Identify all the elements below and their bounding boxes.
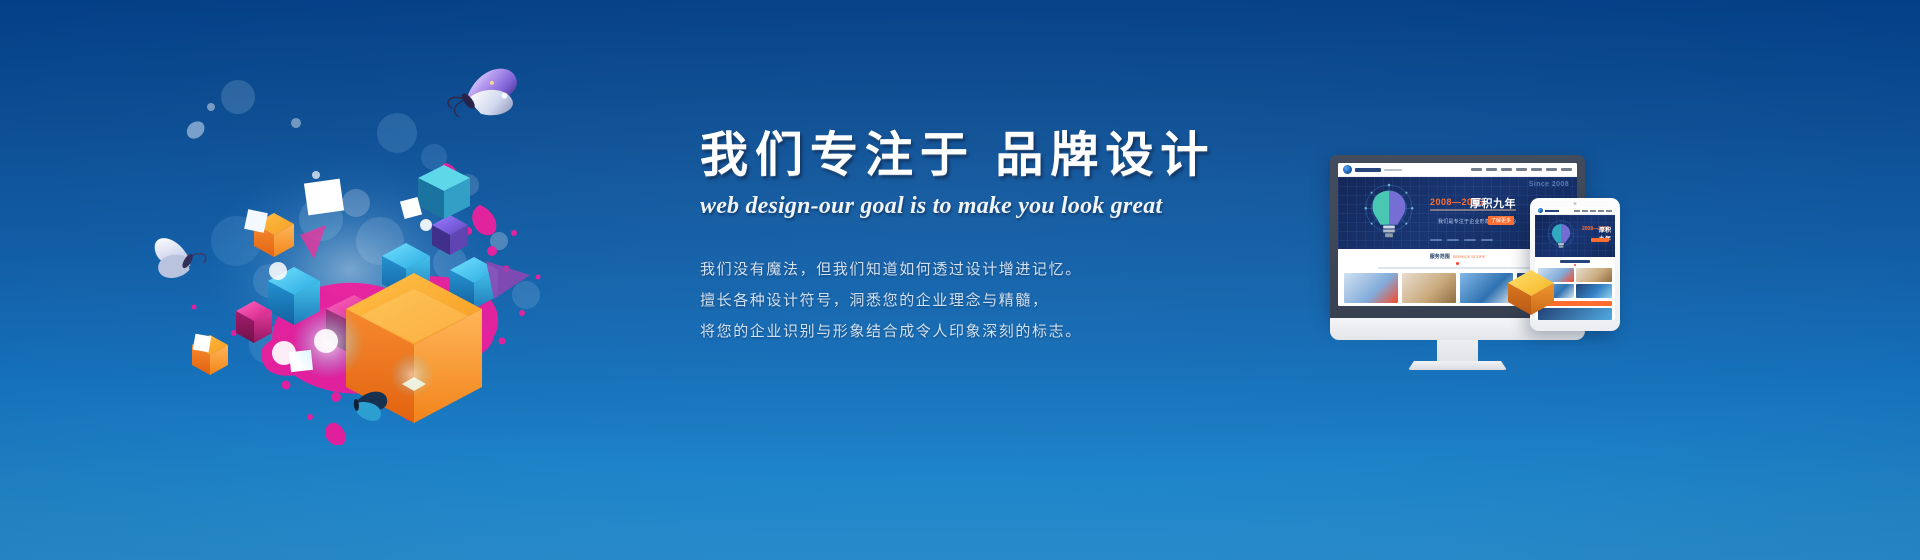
tablet-site-logo-icon [1538, 208, 1543, 213]
front-camera-icon [1574, 202, 1577, 205]
tablet-nav-item[interactable] [1574, 210, 1580, 212]
tablet-nav-item[interactable] [1598, 210, 1604, 212]
tablet-nav-item[interactable] [1606, 210, 1612, 212]
abstract-artwork [150, 45, 590, 445]
description-line-2: 擅长各种设计符号，洞悉您的企业理念与精髓， [700, 293, 1220, 308]
nav-item-about[interactable] [1486, 168, 1497, 171]
tablet-thumbnail-item[interactable] [1576, 268, 1612, 282]
description-block: 我们没有魔法，但我们知道如何透过设计增进记忆。 擅长各种设计符号，洞悉您的企业理… [700, 262, 1220, 339]
hero-since-text: Since 2008 [1529, 181, 1569, 188]
butterfly-bottom [353, 390, 389, 422]
tablet-mockup-header [1535, 207, 1615, 215]
slider-dot-4[interactable] [1481, 239, 1493, 241]
section-subtitle: SERVICE SCOPE [1453, 254, 1486, 259]
page-title: 我们专注于 品牌设计 [700, 128, 1220, 184]
butterfly-left [150, 236, 208, 286]
hero-copy: 我们专注于 品牌设计 web design-our goal is to mak… [700, 128, 1220, 339]
tablet-site-logo-text [1545, 210, 1559, 212]
section-title: 服务范围 [1430, 253, 1450, 260]
mockup-nav[interactable] [1471, 168, 1572, 171]
nav-item-news[interactable] [1531, 168, 1542, 171]
lightbulb-network-icon [1360, 183, 1418, 245]
thumbnail-item[interactable] [1344, 273, 1398, 303]
mockup-header [1338, 163, 1577, 177]
monitor-stand-neck [1437, 340, 1478, 364]
nav-item-support[interactable] [1546, 168, 1557, 171]
nav-item-cases[interactable] [1501, 168, 1512, 171]
slider-dot-2[interactable] [1447, 239, 1459, 241]
tablet-thumbnail-item[interactable] [1576, 284, 1612, 298]
tablet-section-title [1560, 260, 1590, 263]
butterfly-top-right [442, 64, 525, 129]
tablet-section-dot [1574, 264, 1576, 266]
nav-item-contact[interactable] [1561, 168, 1572, 171]
nav-item-services[interactable] [1516, 168, 1527, 171]
site-logo-subtext [1384, 169, 1402, 171]
tablet-nav[interactable] [1574, 210, 1612, 212]
tablet-nav-item[interactable] [1590, 210, 1596, 212]
hero-cta-button[interactable]: 了解更多 [1488, 216, 1514, 225]
tablet-hero-banner: 2008—2016 厚积九年 [1535, 215, 1615, 257]
slider-dot-1[interactable] [1430, 239, 1442, 241]
device-mockups: Since 2008 2008—2016 厚积九年 我们是专注于企业形象设计的机… [1330, 155, 1620, 395]
section-accent-dot [1456, 262, 1459, 265]
nav-item-home[interactable] [1471, 168, 1482, 171]
tablet-lightbulb-icon [1544, 219, 1578, 255]
orange-3d-cube [1507, 268, 1555, 316]
tablet-hero-cta[interactable] [1591, 238, 1609, 242]
monitor-stand-base [1408, 361, 1507, 370]
thumbnail-item[interactable] [1402, 273, 1456, 303]
site-logo-icon [1343, 165, 1352, 174]
hero-banner: 我们专注于 品牌设计 web design-our goal is to mak… [0, 0, 1920, 560]
hero-divider [1430, 209, 1516, 211]
tablet-nav-item[interactable] [1582, 210, 1588, 212]
description-line-3: 将您的企业识别与形象结合成令人印象深刻的标志。 [700, 324, 1220, 339]
hero-slider-dots[interactable] [1430, 239, 1493, 241]
site-logo-text [1355, 168, 1381, 172]
page-subtitle: web design-our goal is to make you look … [700, 193, 1220, 220]
description-line-1: 我们没有魔法，但我们知道如何透过设计增进记忆。 [700, 262, 1220, 277]
thumbnail-item[interactable] [1460, 273, 1514, 303]
slider-dot-3[interactable] [1464, 239, 1476, 241]
